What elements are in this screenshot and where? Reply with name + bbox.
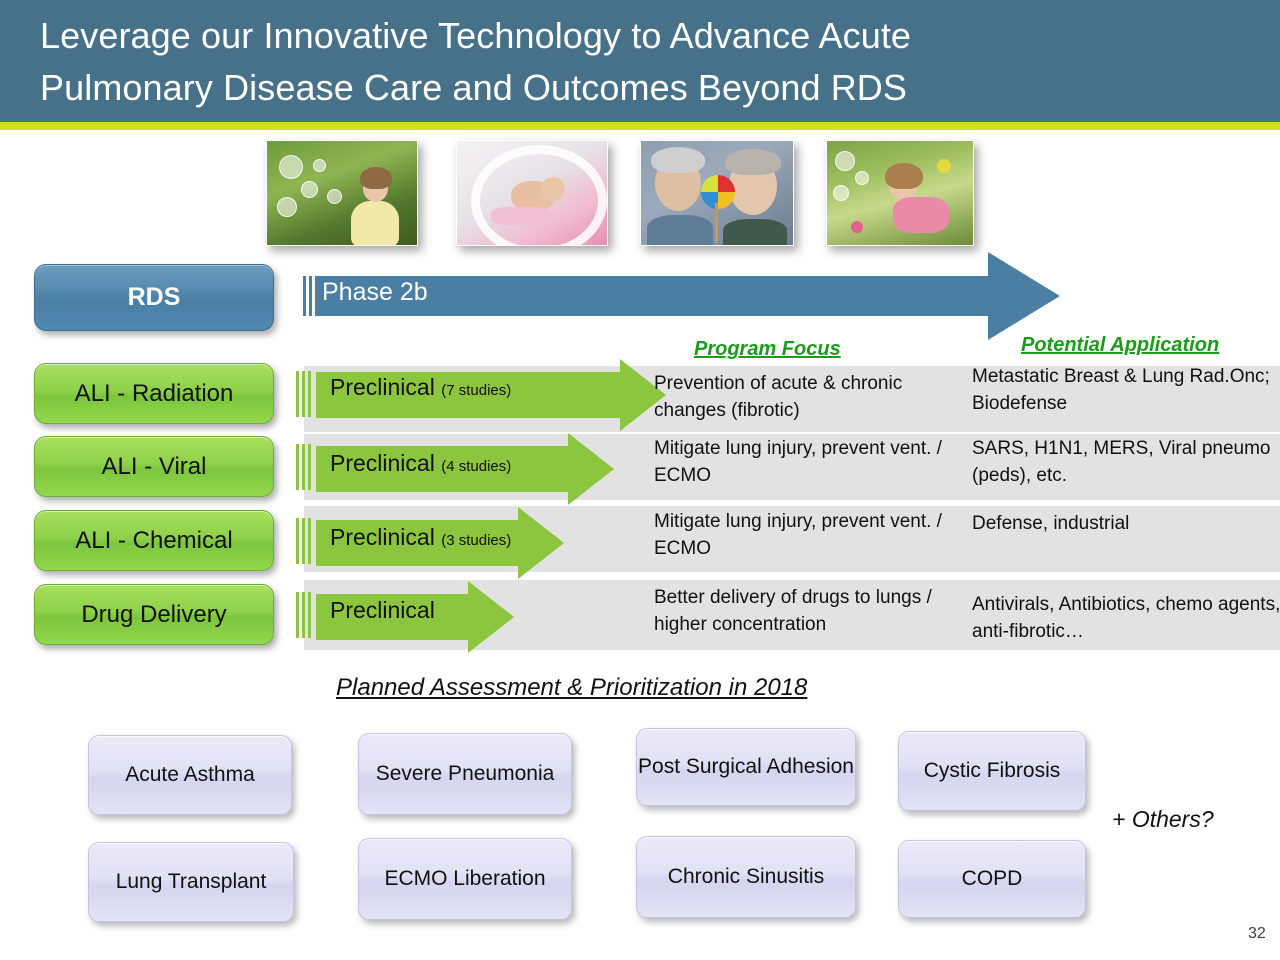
planned-assessment-heading: Planned Assessment & Prioritization in 2…: [336, 674, 807, 702]
program-application-cell: Defense, industrial: [972, 510, 1278, 537]
stage-button-rds[interactable]: RDS: [34, 264, 274, 331]
stage-text: Preclinical: [330, 450, 435, 476]
row-tick-marks: [296, 592, 316, 638]
candidate-box-cystic-fibrosis[interactable]: Cystic Fibrosis: [898, 731, 1086, 811]
program-focus-cell: Mitigate lung injury, prevent vent. / EC…: [654, 508, 974, 562]
plus-others-label: + Others?: [1112, 806, 1214, 833]
program-stage-label: Preclinical (7 studies): [330, 374, 511, 401]
stage-text: Preclinical: [330, 597, 435, 623]
program-focus-cell: Better delivery of drugs to lungs / high…: [654, 584, 972, 638]
candidate-box-severe-pneumonia[interactable]: Severe Pneumonia: [358, 733, 572, 815]
photo-girl-in-flower-meadow: [826, 140, 974, 246]
timeline-tick-marks: [300, 274, 320, 320]
column-header-potential-application: Potential Application: [1021, 334, 1219, 357]
program-application-cell: Metastatic Breast & Lung Rad.Onc; Biodef…: [972, 363, 1278, 417]
program-button[interactable]: ALI - Viral: [34, 436, 274, 497]
photo-child-blowing-bubbles: [266, 140, 418, 246]
candidate-box-copd[interactable]: COPD: [898, 840, 1086, 918]
timeline-arrow-head: [988, 252, 1060, 340]
slide-title: Leverage our Innovative Technology to Ad…: [40, 10, 1240, 114]
stage-studies: (3 studies): [441, 532, 511, 549]
program-stage-label: Preclinical (3 studies): [330, 524, 511, 551]
slide-canvas: Leverage our Innovative Technology to Ad…: [0, 0, 1280, 960]
program-application-cell: Antivirals, Antibiotics, chemo agents, a…: [972, 591, 1280, 645]
photo-neonate-in-incubator: [456, 140, 608, 246]
program-stage-label: Preclinical (4 studies): [330, 450, 511, 477]
candidate-box-chronic-sinusitis[interactable]: Chronic Sinusitis: [636, 836, 856, 918]
row-tick-marks: [296, 518, 316, 564]
program-application-cell: SARS, H1N1, MERS, Viral pneumo (peds), e…: [972, 435, 1278, 489]
stage-text: Preclinical: [330, 374, 435, 400]
program-button[interactable]: Drug Delivery: [34, 584, 274, 645]
candidate-box-lung-transplant[interactable]: Lung Transplant: [88, 842, 294, 922]
page-number: 32: [1248, 925, 1266, 943]
candidate-box-post-surgical-adhesion[interactable]: Post Surgical Adhesion: [636, 728, 856, 806]
timeline-phase-label: Phase 2b: [322, 278, 428, 307]
row-tick-marks: [296, 444, 316, 490]
program-focus-cell: Mitigate lung injury, prevent vent. / EC…: [654, 435, 964, 489]
stage-text: Preclinical: [330, 524, 435, 550]
program-button[interactable]: ALI - Radiation: [34, 363, 274, 424]
row-tick-marks: [296, 371, 316, 417]
candidate-box-acute-asthma[interactable]: Acute Asthma: [88, 735, 292, 815]
photo-strip: [258, 140, 998, 252]
program-focus-cell: Prevention of acute & chronic changes (f…: [654, 370, 964, 424]
photo-elderly-couple-with-pinwheel: [640, 140, 794, 246]
program-button[interactable]: ALI - Chemical: [34, 510, 274, 571]
stage-studies: (7 studies): [441, 382, 511, 399]
candidate-box-ecmo-liberation[interactable]: ECMO Liberation: [358, 838, 572, 920]
header-accent-rule: [0, 122, 1280, 130]
stage-studies: (4 studies): [441, 458, 511, 475]
program-stage-label: Preclinical: [330, 597, 435, 624]
column-header-program-focus: Program Focus: [694, 338, 841, 361]
